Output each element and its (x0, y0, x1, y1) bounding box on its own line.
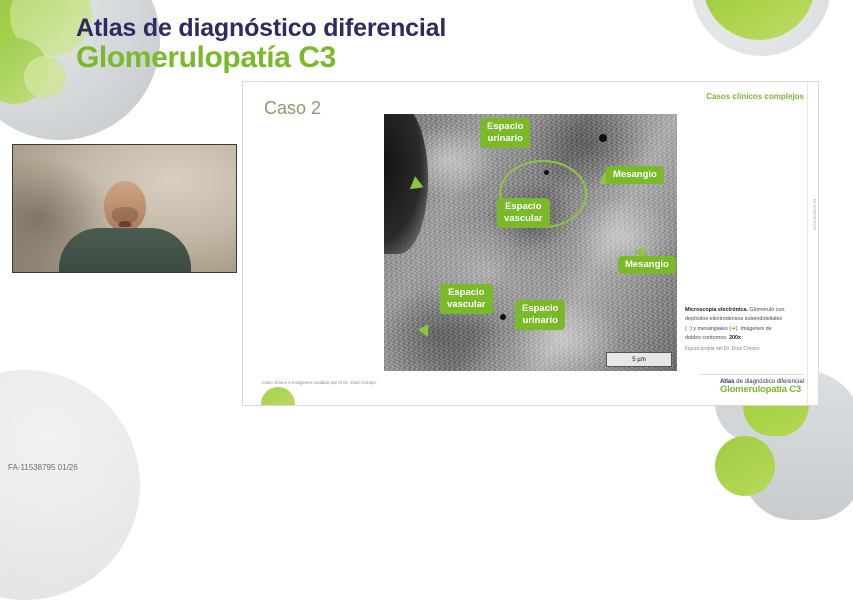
page-reference-code: FA-11538795 01/26 (8, 463, 78, 472)
caption-magnification: 200x (729, 335, 741, 341)
decor-circle-grey-bottom-left (0, 370, 140, 600)
scale-bar: 5 µm (606, 352, 672, 367)
caption-heading: Microscopía electrónica. (685, 307, 748, 313)
slide-footer-divider (700, 374, 804, 375)
slide-credit-line: Caso clínico e imágenes cedidas por el D… (262, 380, 377, 385)
label-espacio-urinario-top: Espacio urinario (480, 118, 530, 148)
deck-title-subtitle: de diagnóstico diferencial (136, 14, 446, 42)
slide-footer-logo: Atlas de diagnóstico diferencial Glomeru… (720, 379, 804, 395)
presenter-video-panel[interactable] (12, 144, 237, 273)
label-espacio-urinario-bottom: Espacio urinario (515, 300, 565, 330)
decor-blob-green-3 (715, 436, 775, 496)
scale-bar-label: 5 µm (632, 357, 645, 363)
presentation-screen: { "deck": { "title_line1_bold": "Atlas",… (0, 0, 853, 480)
caption-body-2: ) y mesangiales ( (690, 326, 731, 332)
micrograph-dense-dot-3 (500, 314, 506, 320)
decor-circle-green-4 (24, 56, 66, 98)
slide-vertical-code: FA-11538795 01/26 (812, 199, 816, 230)
slide-canvas: Caso 2 Casos clínicos complejos Espacio … (242, 81, 819, 406)
label-mesangio-1: Mesangio (606, 166, 664, 184)
deck-title-line1: Atlas de diagnóstico diferencial (76, 16, 446, 42)
decor-blob-slide-bottom-left (261, 387, 295, 406)
figure-caption: Microscopía electrónica. Glomérulo con d… (685, 306, 785, 354)
deck-title-line2: Glomerulopatía C3 (76, 43, 446, 74)
slide-section-label: Casos clínicos complejos (674, 92, 804, 102)
electron-micrograph: Espacio urinario Mesangio Espacio vascul… (384, 114, 677, 371)
label-espacio-vascular-2: Espacio vascular (440, 284, 493, 314)
label-espacio-vascular-1: Espacio vascular (497, 198, 550, 228)
label-mesangio-2: Mesangio (618, 256, 676, 274)
slide-case-title: Caso 2 (264, 98, 321, 119)
decor-circle-green-1 (0, 0, 70, 52)
deck-title: Atlas de diagnóstico diferencial Glomeru… (76, 16, 446, 73)
deck-title-atlas: Atlas (76, 14, 136, 42)
micrograph-dense-dot-1 (599, 134, 607, 142)
presenter-torso (59, 228, 191, 272)
decor-circle-green-3 (0, 38, 48, 104)
decor-circle-grey-top-right (691, 0, 831, 56)
caption-source: Figura propia del Dr. Díaz Crespo (685, 345, 785, 354)
slide-right-divider (807, 82, 808, 405)
slide-logo-line2: Glomerulopatía C3 (720, 385, 804, 395)
decor-circle-green-top-right (703, 0, 815, 40)
